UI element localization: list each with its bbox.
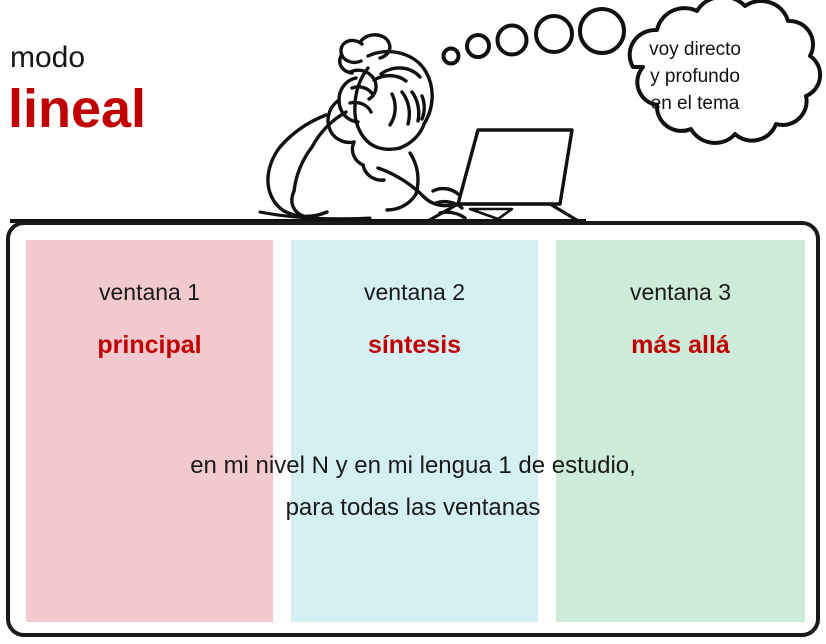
window-3-label: ventana 3 [556,278,805,306]
window-1-title: principal [26,330,273,360]
thought-line-1: voy directo [600,36,790,63]
thought-bubble-text: voy directo y profundo en el tema [600,36,790,117]
window-panel-3[interactable]: ventana 3 más allá [556,240,805,622]
thought-line-2: y profundo [600,63,790,90]
window-3-title: más allá [556,330,805,360]
window-panel-1[interactable]: ventana 1 principal [26,240,273,622]
heading-kicker: modo [10,40,85,76]
window-1-label: ventana 1 [26,278,273,306]
window-2-label: ventana 2 [291,278,538,306]
window-panel-2[interactable]: ventana 2 síntesis [291,240,538,622]
window-2-title: síntesis [291,330,538,360]
slide-canvas: modo lineal [0,0,826,644]
thought-line-3: en el tema [600,90,790,117]
page-title: lineal [8,78,146,140]
